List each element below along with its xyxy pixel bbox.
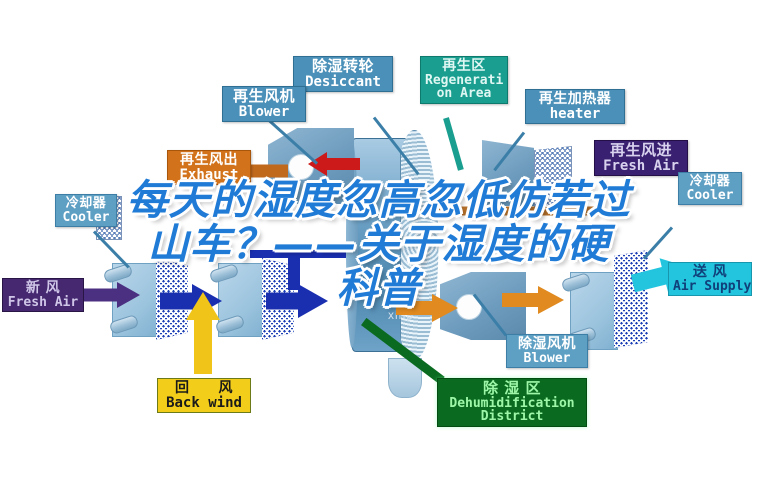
- label-regen-blower[interactable]: 再生风机 Blower: [222, 86, 306, 122]
- process-air-top-rail: [250, 250, 346, 258]
- label-regeneration-heater-cn: 再生加热器: [530, 92, 620, 107]
- label-dehumidification-district-en2: District: [442, 410, 582, 424]
- label-dehumidification-blower-en: Blower: [511, 352, 583, 366]
- diagram-canvas: xinp: [0, 0, 757, 488]
- label-dehumidification-district[interactable]: 除 湿 区 Dehumidification District: [437, 378, 587, 427]
- label-exhaust-cn: 再生风出: [172, 153, 246, 168]
- label-regeneration-heater-en: heater: [530, 107, 620, 122]
- label-back-wind-cn: 回 风: [162, 381, 246, 396]
- label-cooler-right-en: Cooler: [683, 189, 737, 203]
- label-fresh-air-en: Fresh Air: [7, 296, 79, 310]
- label-air-supply-en: Air Supply: [673, 280, 747, 294]
- regeneration-fresh-air-arrow: [418, 203, 602, 219]
- label-desiccant-wheel-cn: 除湿转轮: [298, 59, 388, 75]
- label-regen-blower-cn: 再生风机: [227, 89, 301, 105]
- label-exhaust[interactable]: 再生风出 Exhaust: [167, 150, 251, 185]
- label-back-wind-en: Back wind: [162, 396, 246, 411]
- label-desiccant-wheel[interactable]: 除湿转轮 Desiccant: [293, 56, 393, 92]
- label-regeneration-area-en1: Regenerati: [425, 74, 503, 88]
- label-back-wind[interactable]: 回 风 Back wind: [157, 378, 251, 413]
- fresh-air-inlet-arrow: [82, 282, 140, 308]
- dehumidified-air-arrow-2: [502, 286, 564, 314]
- label-cooler-right[interactable]: 冷却器 Cooler: [678, 172, 742, 205]
- label-cooler-left-en: Cooler: [60, 211, 112, 225]
- label-regen-blower-en: Blower: [227, 105, 301, 120]
- label-fresh-air[interactable]: 新 风 Fresh Air: [2, 278, 84, 312]
- label-cooler-left[interactable]: 冷却器 Cooler: [55, 194, 117, 227]
- leader-cooler-right: [643, 226, 673, 259]
- label-exhaust-en: Exhaust: [172, 168, 246, 183]
- dehumidified-air-arrow-1: [396, 294, 458, 322]
- label-desiccant-wheel-en: Desiccant: [298, 75, 388, 90]
- label-cooler-left-cn: 冷却器: [60, 197, 112, 211]
- label-dehumidification-district-en1: Dehumidification: [442, 397, 582, 411]
- back-wind-arrow: [186, 292, 220, 374]
- label-fresh-air-cn: 新 风: [7, 281, 79, 296]
- label-regeneration-area[interactable]: 再生区 Regenerati on Area: [420, 56, 508, 104]
- label-regeneration-heater[interactable]: 再生加热器 heater: [525, 89, 625, 124]
- label-regen-fresh-air-cn: 再生风进: [599, 143, 683, 159]
- leader-regen-area: [443, 117, 464, 171]
- label-regeneration-area-cn: 再生区: [425, 59, 503, 74]
- label-cooler-right-cn: 冷却器: [683, 175, 737, 189]
- label-regen-fresh-air-en: Fresh Air: [599, 159, 683, 174]
- label-regen-fresh-air[interactable]: 再生风进 Fresh Air: [594, 140, 688, 176]
- label-dehumidification-district-cn: 除 湿 区: [442, 381, 582, 397]
- label-dehumidification-blower[interactable]: 除湿风机 Blower: [506, 334, 588, 368]
- label-air-supply[interactable]: 送 风 Air Supply: [668, 262, 752, 296]
- label-air-supply-cn: 送 风: [673, 265, 747, 280]
- label-dehumidification-blower-cn: 除湿风机: [511, 337, 583, 352]
- label-regeneration-area-en2: on Area: [425, 87, 503, 101]
